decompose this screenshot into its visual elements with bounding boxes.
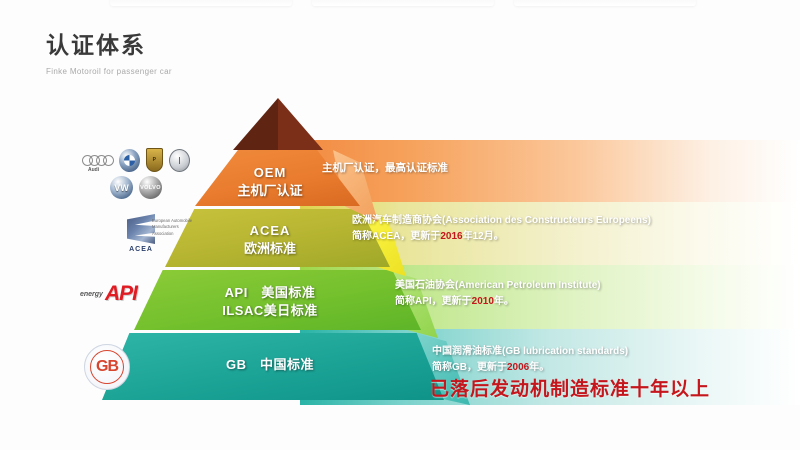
oem-brand-row-1: Audi P — [82, 148, 190, 172]
pyramid-label-gb: GB 中国标准 — [120, 356, 420, 374]
mercedes-logo — [169, 149, 190, 172]
pyramid-label-api-line1: API 美国标准 — [120, 284, 420, 302]
description-api: 美国石油协会(American Petroleum Institute) 简称A… — [395, 278, 601, 309]
top-card-3 — [514, 0, 696, 6]
description-acea-line1: 欧洲汽车制造商协会(Association des Constructeurs … — [352, 213, 651, 229]
gb-logo-mark: GB — [90, 350, 124, 384]
porsche-logo: P — [146, 148, 163, 172]
slide-canvas: 认证体系 Finke Motoroil for passenger car OE… — [0, 0, 800, 450]
description-acea: 欧洲汽车制造商协会(Association des Constructeurs … — [352, 213, 651, 244]
heading-block: 认证体系 Finke Motoroil for passenger car — [46, 26, 172, 76]
acea-logo-text: ACEA — [106, 246, 176, 253]
volvo-logo: VOLVO — [139, 176, 162, 199]
description-gb: 中国润滑油标准(GB lubrication standards) 简称GB，更… — [432, 344, 628, 375]
audi-logo-text: Audi — [88, 167, 99, 173]
gb-logo: GB — [84, 344, 130, 390]
description-acea-suffix: 年12月。 — [463, 231, 504, 242]
description-api-prefix: 简称API，更新于 — [395, 296, 472, 307]
description-gb-line1: 中国润滑油标准(GB lubrication standards) — [432, 344, 628, 360]
description-gb-suffix: 年。 — [529, 362, 549, 373]
top-card-2 — [312, 0, 494, 6]
api-logo-mark: API — [105, 282, 137, 306]
audi-logo: Audi — [82, 149, 113, 172]
description-gb-year: 2006 — [507, 362, 529, 373]
bmw-logo — [119, 149, 140, 172]
page-subtitle: Finke Motoroil for passenger car — [46, 67, 172, 76]
description-gb-line2: 简称GB，更新于2006年。 — [432, 360, 628, 376]
api-logo-energy-text: energy — [80, 291, 103, 298]
description-acea-prefix: 简称ACEA，更新于 — [352, 231, 440, 242]
warning-text: 已落后发动机制造标准十年以上 — [430, 374, 710, 401]
oem-brand-logos: Audi P VW VOLVO — [82, 148, 190, 199]
top-card-1 — [110, 0, 292, 6]
description-acea-line2: 简称ACEA，更新于2016年12月。 — [352, 229, 651, 245]
description-api-line1: 美国石油协会(American Petroleum Institute) — [395, 278, 601, 294]
api-logo: energy API — [80, 282, 137, 306]
description-api-line2: 简称API，更新于2010年。 — [395, 294, 601, 310]
description-oem-line1: 主机厂认证，最高认证标准 — [322, 160, 448, 176]
oem-brand-row-2: VW VOLVO — [82, 176, 190, 199]
description-api-suffix: 年。 — [494, 296, 514, 307]
description-gb-prefix: 简称GB，更新于 — [432, 362, 507, 373]
acea-logo-subtitle: European Automobile Manufacturers Associ… — [152, 218, 198, 237]
volkswagen-logo: VW — [110, 176, 133, 199]
acea-logo-mark — [127, 214, 155, 244]
pyramid-label-gb-line: GB 中国标准 — [120, 356, 420, 374]
pyramid-apex-shadow — [233, 98, 278, 150]
description-oem: 主机厂认证，最高认证标准 — [322, 160, 448, 176]
acea-logo: ACEA European Automobile Manufacturers A… — [106, 214, 176, 253]
description-acea-year: 2016 — [440, 231, 462, 242]
page-title: 认证体系 — [46, 26, 172, 60]
pyramid-label-api: API 美国标准 ILSAC美日标准 — [120, 284, 420, 319]
description-api-year: 2010 — [472, 296, 494, 307]
pyramid-label-api-line2: ILSAC美日标准 — [120, 302, 420, 320]
